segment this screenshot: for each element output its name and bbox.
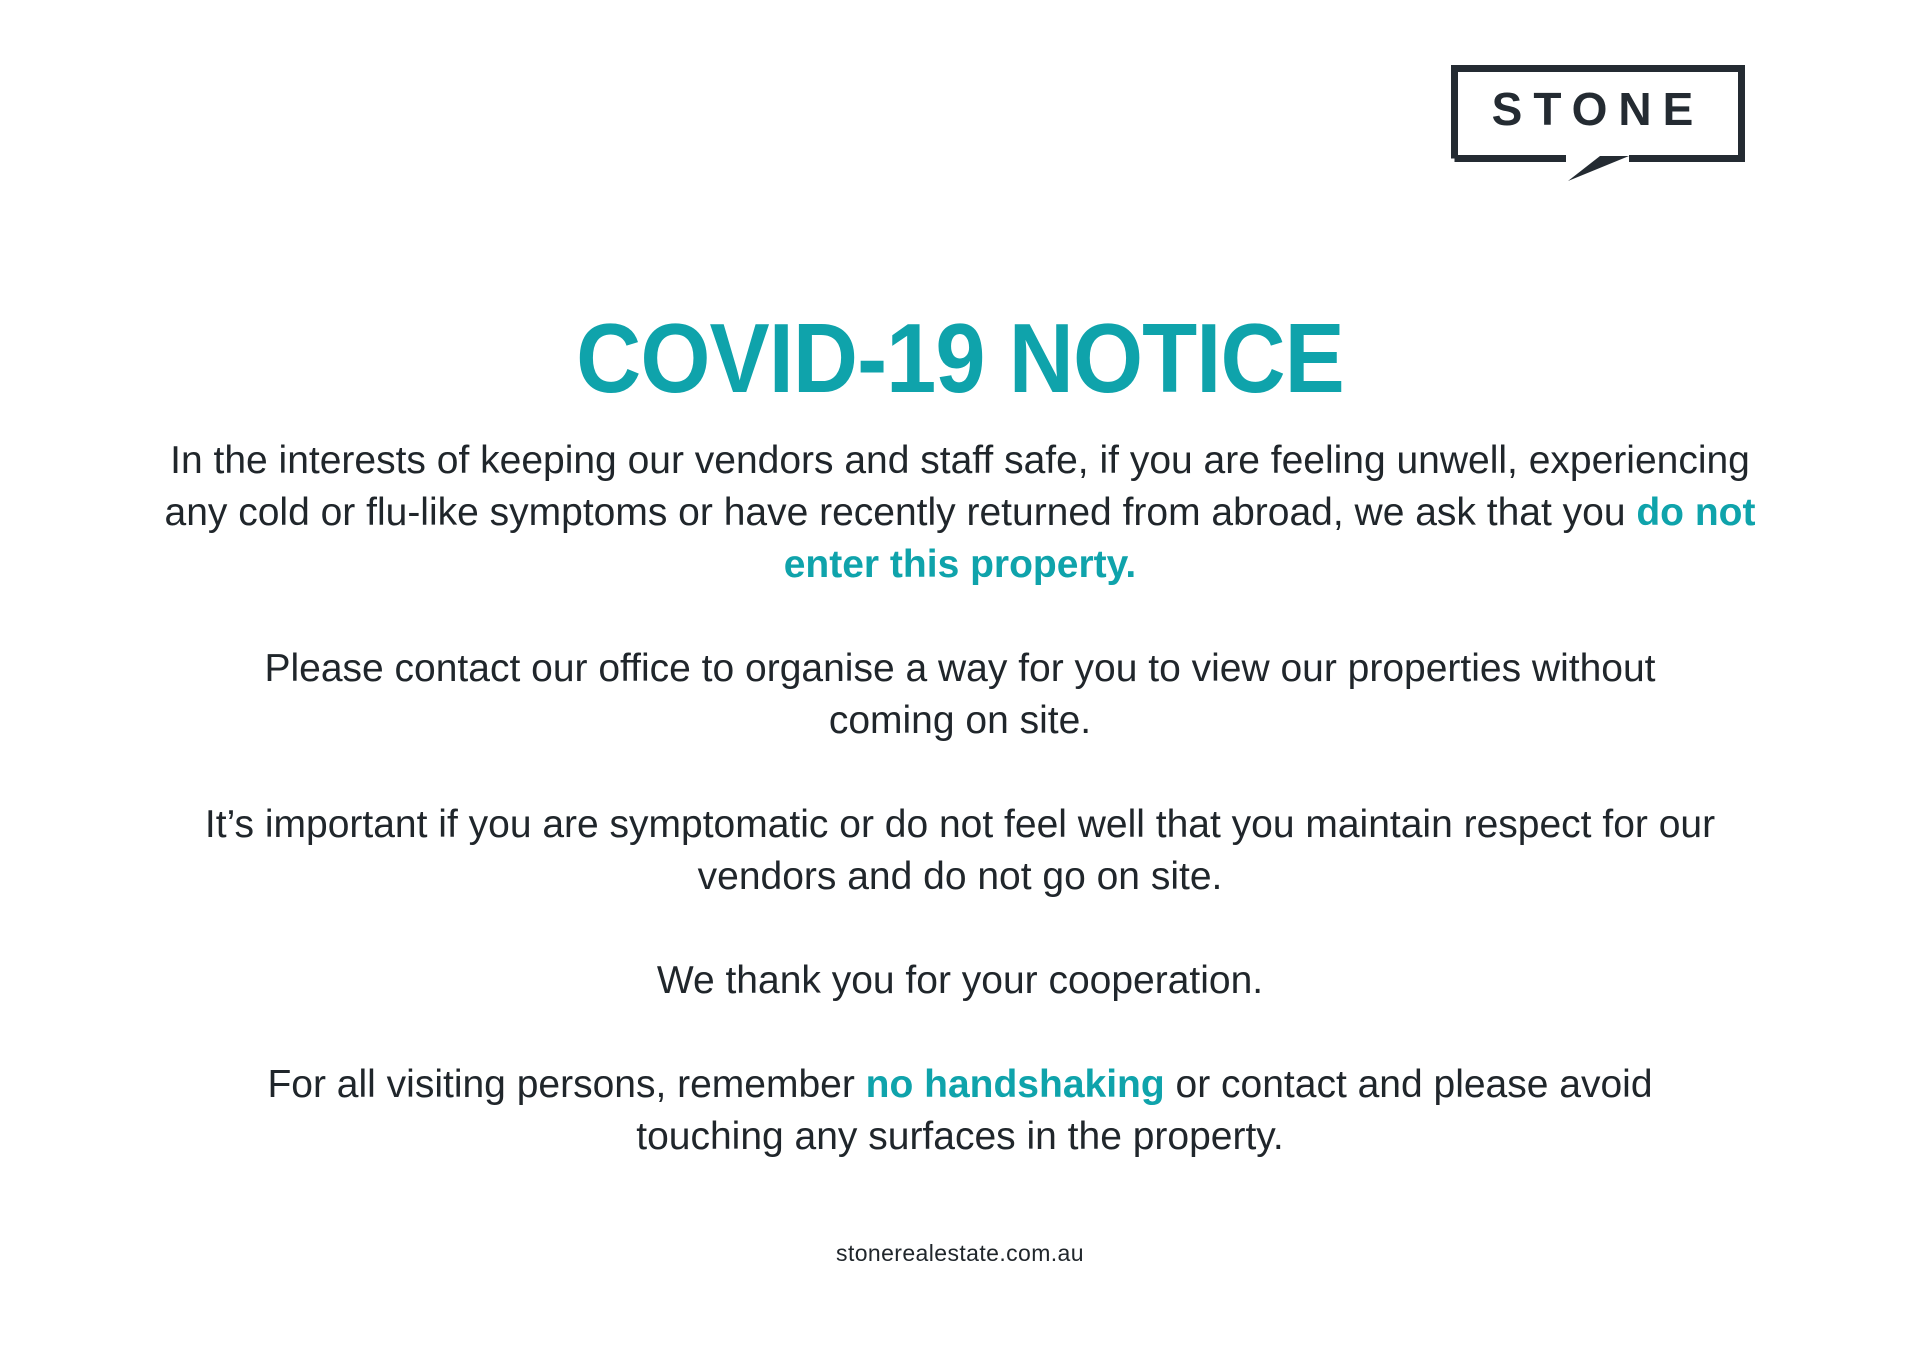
page-title: COVID-19 NOTICE — [77, 309, 1843, 407]
paragraph-5-emphasis: no handshaking — [866, 1063, 1165, 1106]
paragraph-4-text: We thank you for your cooperation. — [657, 959, 1263, 1002]
notice-body: In the interests of keeping our vendors … — [150, 435, 1770, 1163]
paragraph-2-text: Please contact our office to organise a … — [264, 647, 1655, 742]
paragraph-3-text: It’s important if you are symptomatic or… — [205, 803, 1715, 898]
stone-logo-icon: STONE — [1448, 62, 1748, 182]
speech-bubble-tail-icon — [1568, 156, 1629, 181]
paragraph-5-text-a: For all visiting persons, remember — [267, 1063, 865, 1106]
paragraph-1: In the interests of keeping our vendors … — [150, 435, 1770, 591]
paragraph-5: For all visiting persons, remember no ha… — [150, 1059, 1770, 1163]
stone-logo: STONE — [1448, 62, 1748, 182]
paragraph-4: We thank you for your cooperation. — [150, 955, 1770, 1007]
covid-notice-poster: STONE COVID-19 NOTICE In the interests o… — [0, 0, 1920, 1357]
paragraph-2: Please contact our office to organise a … — [150, 643, 1770, 747]
logo-wordmark: STONE — [1492, 83, 1705, 135]
paragraph-1-text: In the interests of keeping our vendors … — [165, 439, 1750, 534]
paragraph-3: It’s important if you are symptomatic or… — [150, 799, 1770, 903]
footer-website: stonerealestate.com.au — [0, 1240, 1920, 1267]
